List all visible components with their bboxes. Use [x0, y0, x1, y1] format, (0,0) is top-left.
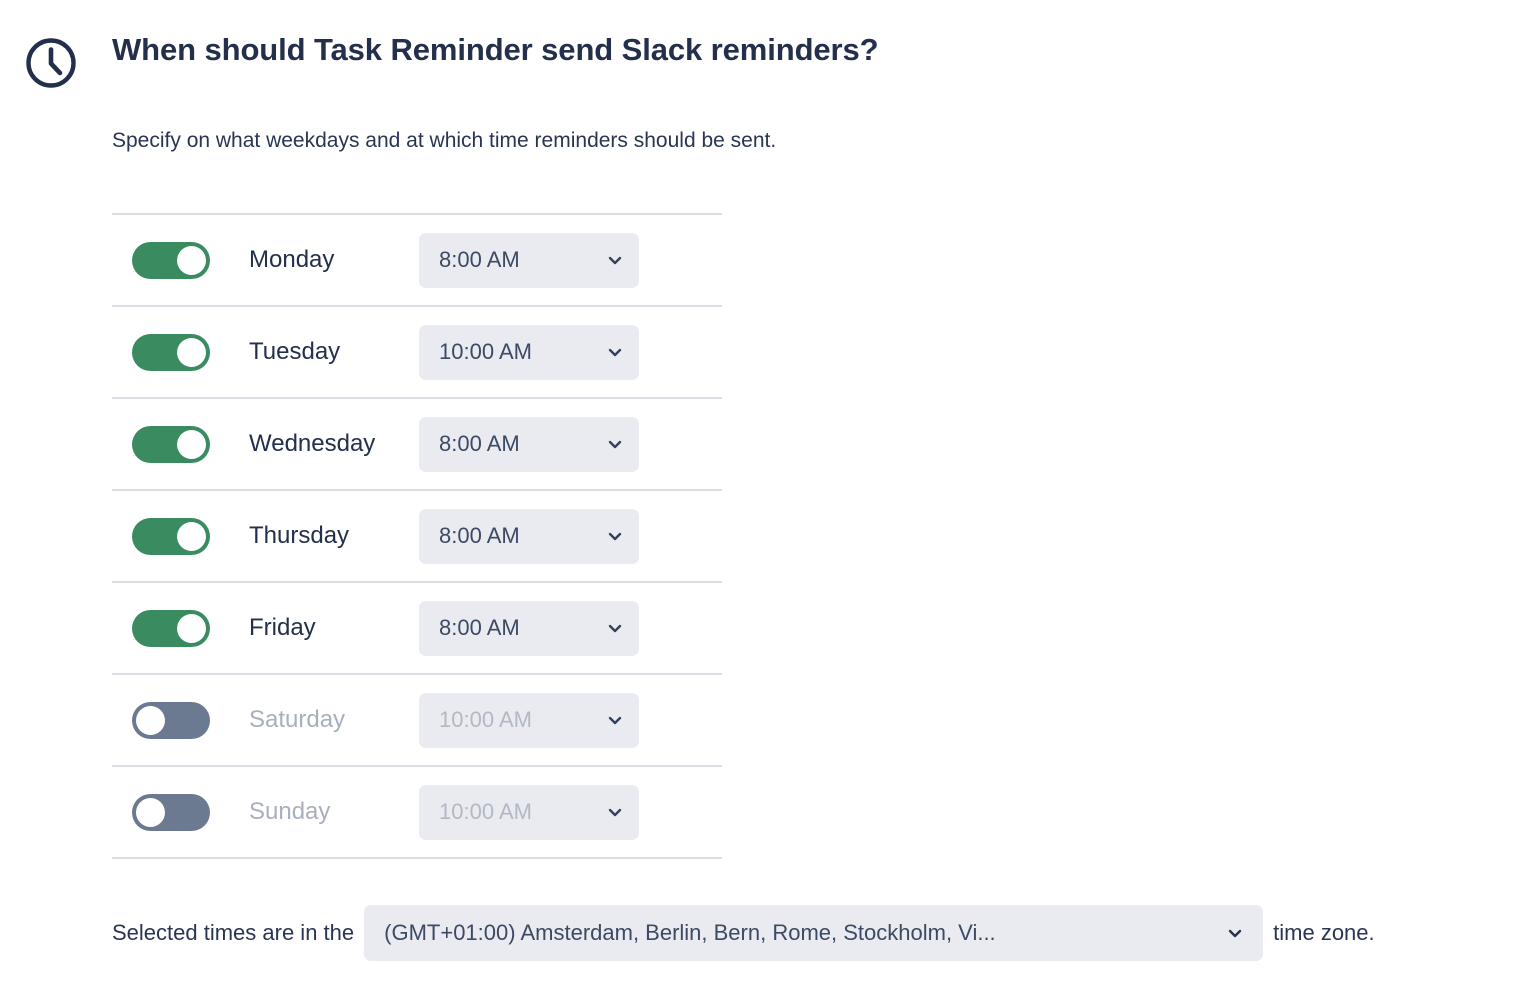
time-select-thursday[interactable]: 8:00 AM [419, 509, 639, 564]
toggle-wednesday[interactable] [132, 426, 210, 463]
chevron-down-icon [607, 712, 623, 728]
time-select-value: 10:00 AM [419, 707, 532, 733]
row-divider [112, 857, 722, 859]
toggle-knob [177, 338, 206, 367]
schedule-row-wednesday: Wednesday 8:00 AM [112, 399, 722, 489]
time-select-saturday[interactable]: 10:00 AM [419, 693, 639, 748]
weekday-schedule-list: Monday 8:00 AM Tuesday 10:00 AM [112, 213, 722, 859]
toggle-knob [177, 614, 206, 643]
toggle-thursday[interactable] [132, 518, 210, 555]
day-label-tuesday: Tuesday [249, 338, 419, 366]
time-select-value: 10:00 AM [419, 799, 532, 825]
reminder-schedule-panel: When should Task Reminder send Slack rem… [0, 0, 1522, 1000]
day-label-wednesday: Wednesday [249, 430, 419, 458]
page-title: When should Task Reminder send Slack rem… [78, 30, 879, 70]
schedule-row-monday: Monday 8:00 AM [112, 215, 722, 305]
schedule-row-sunday: Sunday 10:00 AM [112, 767, 722, 857]
chevron-down-icon [607, 344, 623, 360]
toggle-friday[interactable] [132, 610, 210, 647]
timezone-select-value: (GMT+01:00) Amsterdam, Berlin, Bern, Rom… [364, 919, 996, 947]
time-select-wednesday[interactable]: 8:00 AM [419, 417, 639, 472]
day-label-friday: Friday [249, 614, 419, 642]
chevron-down-icon [607, 436, 623, 452]
time-select-value: 8:00 AM [419, 431, 520, 457]
time-select-sunday[interactable]: 10:00 AM [419, 785, 639, 840]
chevron-down-icon [607, 252, 623, 268]
toggle-sunday[interactable] [132, 794, 210, 831]
toggle-knob [136, 706, 165, 735]
timezone-select[interactable]: (GMT+01:00) Amsterdam, Berlin, Bern, Rom… [364, 905, 1263, 961]
panel-subtitle: Specify on what weekdays and at which ti… [112, 126, 776, 156]
day-label-sunday: Sunday [249, 798, 419, 826]
schedule-row-friday: Friday 8:00 AM [112, 583, 722, 673]
time-select-value: 8:00 AM [419, 615, 520, 641]
schedule-row-saturday: Saturday 10:00 AM [112, 675, 722, 765]
panel-header: When should Task Reminder send Slack rem… [24, 30, 879, 90]
toggle-monday[interactable] [132, 242, 210, 279]
chevron-down-icon [607, 528, 623, 544]
time-select-value: 8:00 AM [419, 523, 520, 549]
chevron-down-icon [1227, 925, 1243, 941]
time-select-value: 10:00 AM [419, 339, 532, 365]
day-label-thursday: Thursday [249, 522, 419, 550]
timezone-suffix-label: time zone. [1273, 919, 1375, 947]
toggle-knob [136, 798, 165, 827]
time-select-value: 8:00 AM [419, 247, 520, 273]
timezone-row: Selected times are in the (GMT+01:00) Am… [112, 905, 1375, 961]
toggle-knob [177, 430, 206, 459]
schedule-row-thursday: Thursday 8:00 AM [112, 491, 722, 581]
chevron-down-icon [607, 804, 623, 820]
time-select-tuesday[interactable]: 10:00 AM [419, 325, 639, 380]
day-label-monday: Monday [249, 246, 419, 274]
time-select-monday[interactable]: 8:00 AM [419, 233, 639, 288]
schedule-row-tuesday: Tuesday 10:00 AM [112, 307, 722, 397]
day-label-saturday: Saturday [249, 706, 419, 734]
toggle-tuesday[interactable] [132, 334, 210, 371]
chevron-down-icon [607, 620, 623, 636]
clock-icon [24, 36, 78, 90]
toggle-knob [177, 522, 206, 551]
timezone-prefix-label: Selected times are in the [112, 919, 354, 947]
toggle-saturday[interactable] [132, 702, 210, 739]
time-select-friday[interactable]: 8:00 AM [419, 601, 639, 656]
toggle-knob [177, 246, 206, 275]
